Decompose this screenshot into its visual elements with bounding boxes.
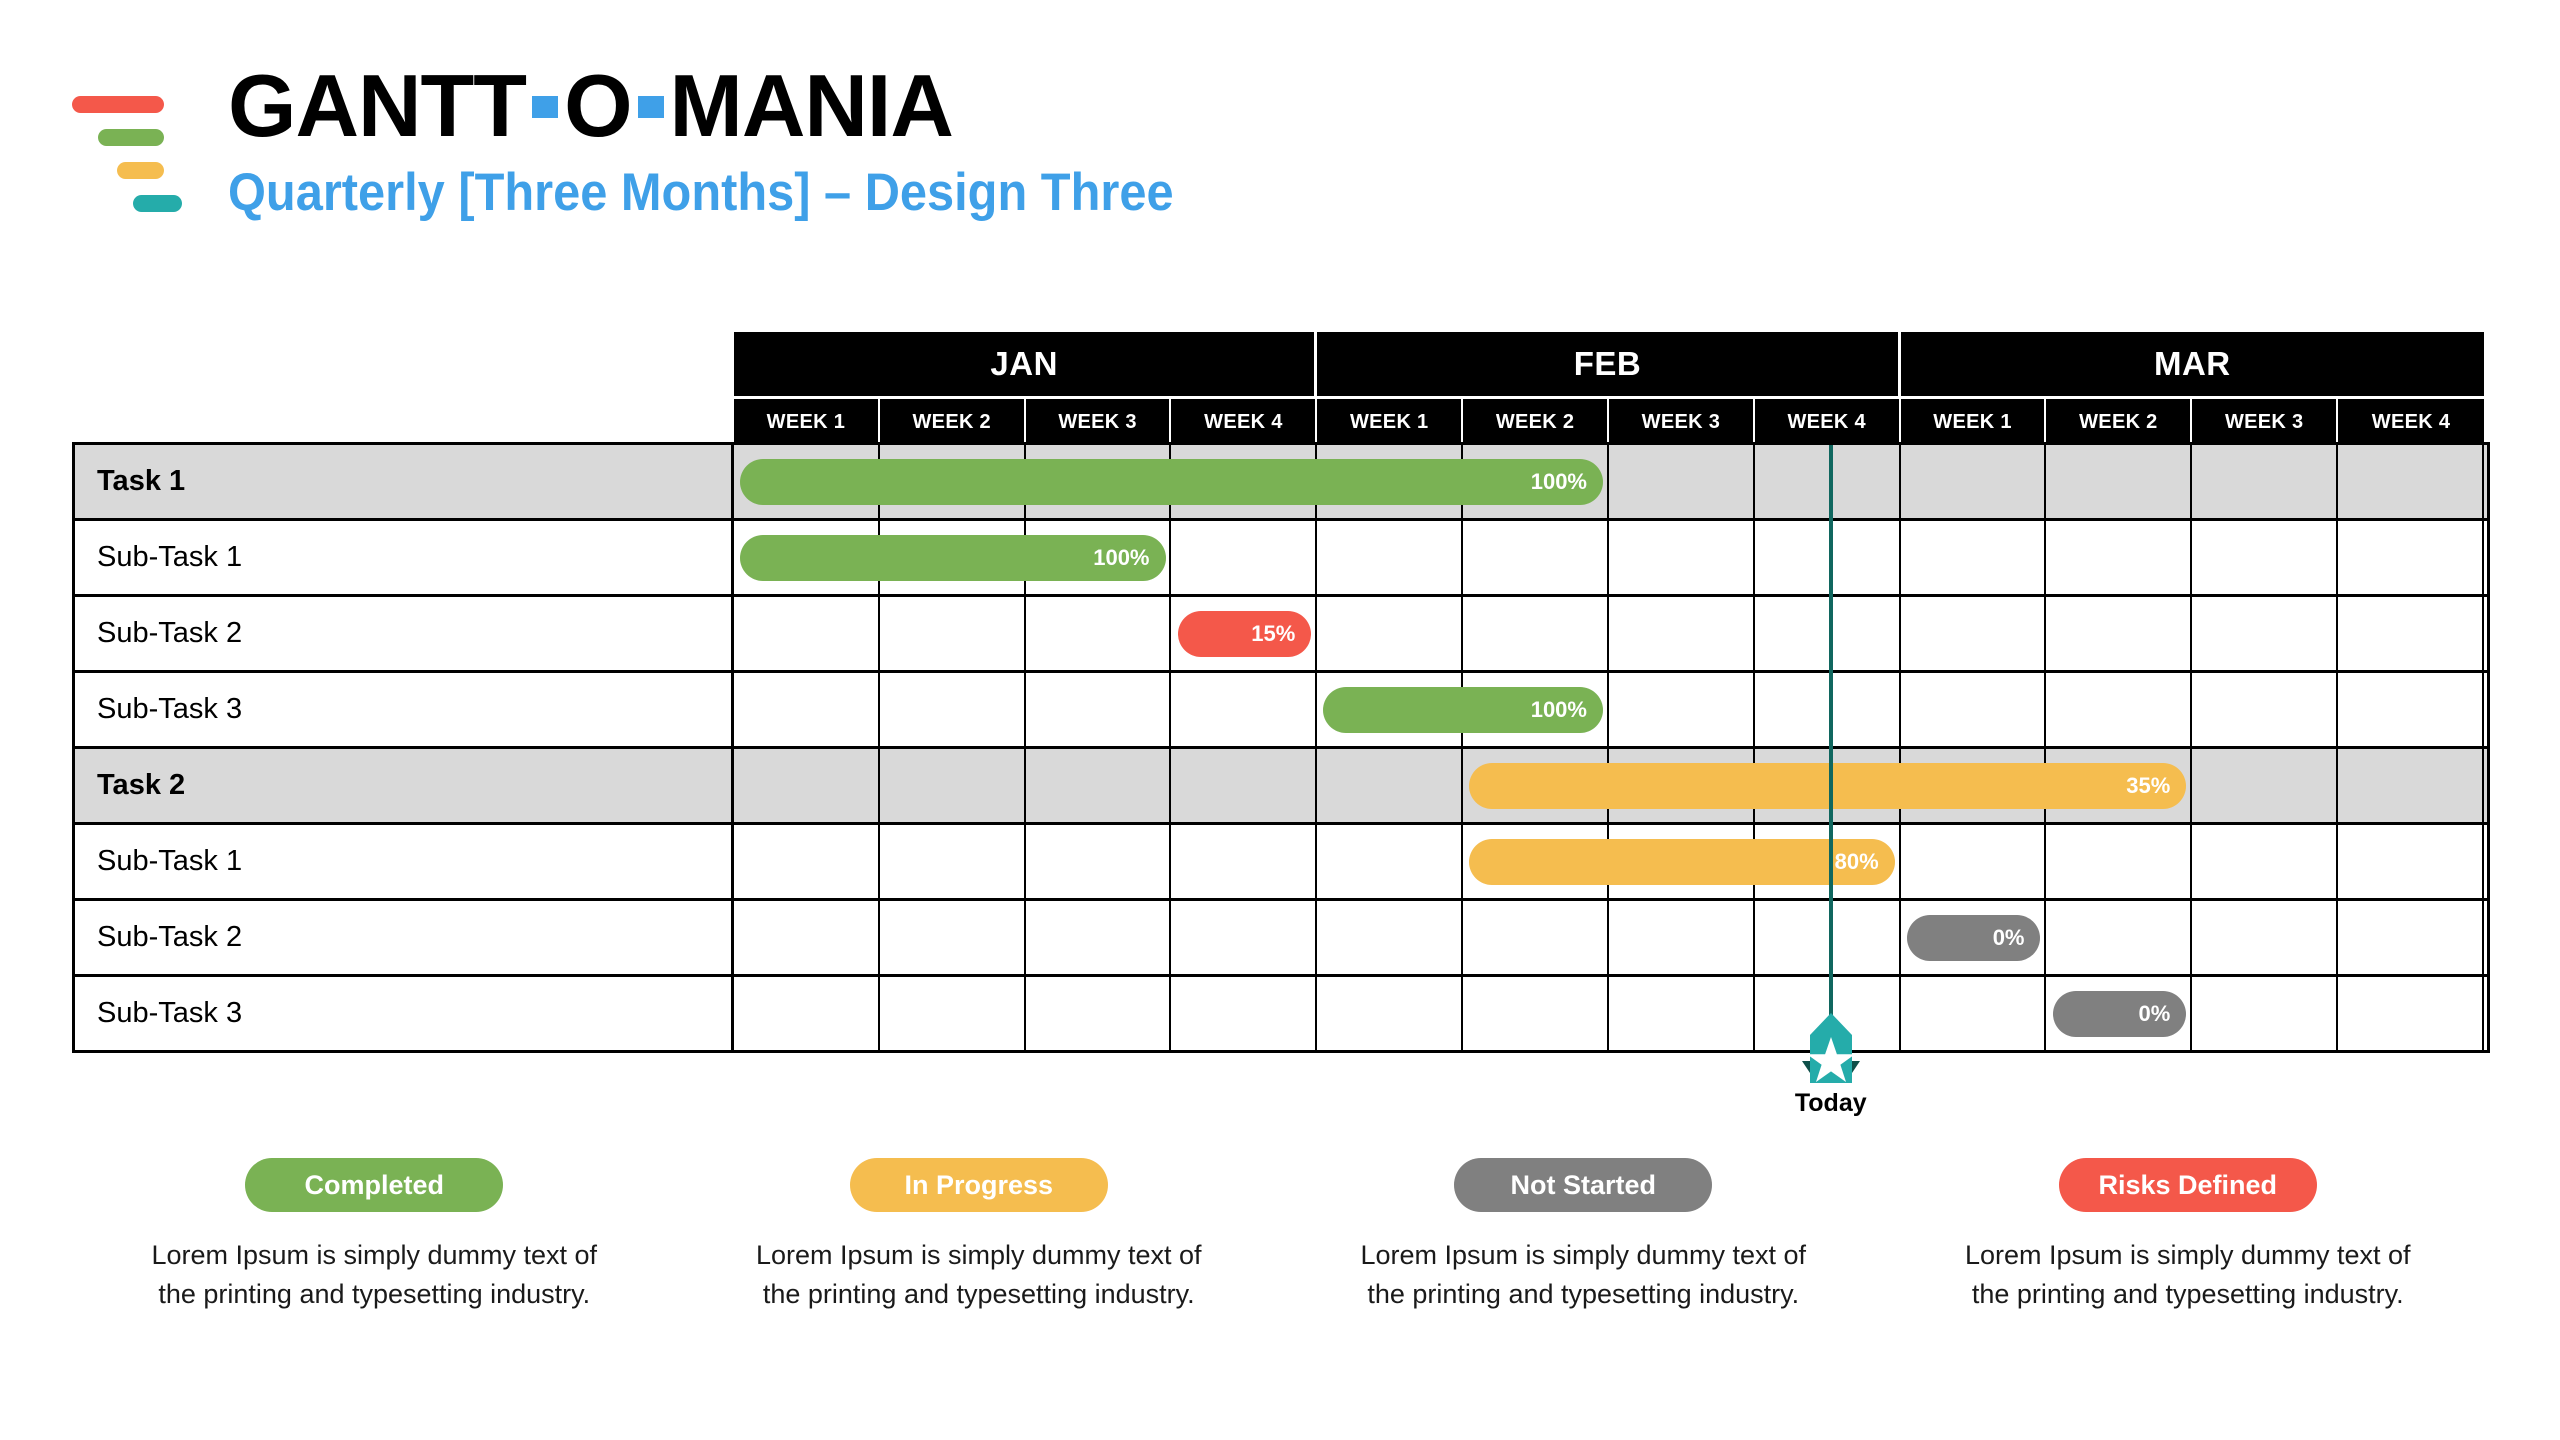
legend-pill[interactable]: Risks Defined: [2059, 1158, 2317, 1212]
week-header-mar-3: WEEK 3: [2192, 396, 2338, 442]
gantt-cell: [1026, 749, 1172, 822]
gantt-cell: [2338, 597, 2484, 670]
gantt-row-lane: 100%: [734, 445, 2490, 521]
title-segment-o: O: [564, 56, 631, 155]
page-title: GANTTOMANIA: [228, 62, 1256, 150]
gantt-row-label: Sub-Task 1: [72, 521, 734, 597]
gantt-row[interactable]: Sub-Task 3100%: [72, 673, 2490, 749]
gantt-row-label: Sub-Task 2: [72, 901, 734, 977]
gantt-bar[interactable]: 15%: [1178, 611, 1312, 657]
gantt-cell: [1901, 597, 2047, 670]
today-label: Today: [1741, 1089, 1921, 1118]
gantt-row[interactable]: Sub-Task 180%: [72, 825, 2490, 901]
week-header-feb-2: WEEK 2: [1463, 396, 1609, 442]
legend: CompletedLorem Ipsum is simply dummy tex…: [72, 1158, 2490, 1314]
page-subtitle: Quarterly [Three Months] – Design Three: [228, 162, 1174, 223]
gantt-bar-progress: 0%: [1993, 925, 2025, 951]
gantt-row-lane: 100%: [734, 673, 2490, 749]
logo-bar-red: [72, 96, 164, 113]
month-header-mar: MAR: [1901, 332, 2484, 396]
gantt-bar-progress: 100%: [1531, 697, 1587, 723]
legend-pill[interactable]: In Progress: [850, 1158, 1108, 1212]
gantt-cell: [1901, 445, 2047, 518]
gantt-row-label: Sub-Task 3: [72, 673, 734, 749]
week-header-feb-4: WEEK 4: [1755, 396, 1901, 442]
gantt-bar-progress: 80%: [1835, 849, 1879, 875]
gantt-cell: [2192, 749, 2338, 822]
week-header-feb-3: WEEK 3: [1609, 396, 1755, 442]
legend-description: Lorem Ipsum is simply dummy text of the …: [1348, 1236, 1818, 1314]
legend-item: Risks DefinedLorem Ipsum is simply dummy…: [1886, 1158, 2491, 1314]
week-header-row: WEEK 1WEEK 2WEEK 3WEEK 4WEEK 1WEEK 2WEEK…: [72, 396, 2490, 442]
gantt-cell: [880, 673, 1026, 746]
gantt-cell: [734, 597, 880, 670]
gantt-cell: [1026, 597, 1172, 670]
gantt-bar-progress: 35%: [2126, 773, 2170, 799]
gantt-cell: [2338, 749, 2484, 822]
gantt-row-lane: 80%: [734, 825, 2490, 901]
title-segment-gantt: GANTT: [228, 56, 526, 155]
gantt-cell: [880, 597, 1026, 670]
gantt-row[interactable]: Sub-Task 20%: [72, 901, 2490, 977]
gantt-cell: [1463, 977, 1609, 1050]
gantt-cell: [2046, 825, 2192, 898]
gantt-chart: JANFEBMAR WEEK 1WEEK 2WEEK 3WEEK 4WEEK 1…: [72, 332, 2490, 1053]
gantt-cell: [1317, 749, 1463, 822]
gantt-cell: [1901, 521, 2047, 594]
title-dash-one-icon: [532, 96, 558, 118]
gantt-cell: [734, 749, 880, 822]
month-header-row: JANFEBMAR: [72, 332, 2490, 396]
gantt-cell: [1755, 673, 1901, 746]
gantt-row-lane: 35%: [734, 749, 2490, 825]
gantt-cell: [2046, 597, 2192, 670]
gantt-cell: [1171, 749, 1317, 822]
gantt-cell: [2338, 901, 2484, 974]
week-header-jan-3: WEEK 3: [1026, 396, 1172, 442]
gantt-bar[interactable]: 0%: [1907, 915, 2041, 961]
gantt-row-label: Task 1: [72, 445, 734, 521]
gantt-cell: [1609, 901, 1755, 974]
gantt-cell: [1026, 825, 1172, 898]
gantt-cell: [2192, 521, 2338, 594]
logo-mark: [72, 96, 182, 206]
title-segment-mania: MANIA: [670, 56, 953, 155]
gantt-cell: [734, 901, 880, 974]
legend-description: Lorem Ipsum is simply dummy text of the …: [1953, 1236, 2423, 1314]
gantt-cell: [1317, 977, 1463, 1050]
gantt-bar[interactable]: 100%: [740, 459, 1603, 505]
logo-bar-green: [98, 129, 164, 146]
week-header-jan-4: WEEK 4: [1171, 396, 1317, 442]
gantt-cell: [1317, 521, 1463, 594]
logo-bar-teal: [133, 195, 182, 212]
gantt-cell: [1755, 521, 1901, 594]
gantt-cell: [2046, 673, 2192, 746]
title-block: GANTTOMANIA Quarterly [Three Months] – D…: [228, 62, 1256, 223]
gantt-cell: [2192, 825, 2338, 898]
week-header-jan-1: WEEK 1: [734, 396, 880, 442]
gantt-cell: [1171, 977, 1317, 1050]
gantt-cell: [734, 825, 880, 898]
page-header: GANTTOMANIA Quarterly [Three Months] – D…: [0, 0, 2560, 290]
gantt-cell: [1317, 825, 1463, 898]
title-dash-two-icon: [638, 96, 664, 118]
gantt-cell: [1609, 445, 1755, 518]
week-header-jan-2: WEEK 2: [880, 396, 1026, 442]
month-header-feb: FEB: [1317, 332, 1900, 396]
gantt-cell: [1901, 825, 2047, 898]
gantt-cell: [1317, 901, 1463, 974]
gantt-cell: [1609, 521, 1755, 594]
gantt-cell: [1026, 977, 1172, 1050]
gantt-bar[interactable]: 100%: [740, 535, 1166, 581]
gantt-row[interactable]: Task 1100%: [72, 445, 2490, 521]
gantt-cell: [1171, 521, 1317, 594]
gantt-row-label: Task 2: [72, 749, 734, 825]
gantt-cell: [1755, 597, 1901, 670]
today-marker-icon: [1800, 1013, 1862, 1092]
gantt-cell: [1755, 901, 1901, 974]
week-header-feb-1: WEEK 1: [1317, 396, 1463, 442]
gantt-cell: [2192, 673, 2338, 746]
gantt-row[interactable]: Sub-Task 215%: [72, 597, 2490, 673]
gantt-bar[interactable]: 0%: [2053, 991, 2187, 1037]
gantt-cell: [1171, 673, 1317, 746]
week-header-mar-2: WEEK 2: [2046, 396, 2192, 442]
today-line: [1829, 445, 1833, 1019]
gantt-cell: [1901, 977, 2047, 1050]
gantt-cell: [2192, 445, 2338, 518]
legend-description: Lorem Ipsum is simply dummy text of the …: [744, 1236, 1214, 1314]
legend-item: In ProgressLorem Ipsum is simply dummy t…: [677, 1158, 1282, 1314]
gantt-cell: [1609, 673, 1755, 746]
gantt-bar[interactable]: 100%: [1323, 687, 1603, 733]
gantt-row[interactable]: Sub-Task 30%: [72, 977, 2490, 1053]
week-header-mar-4: WEEK 4: [2338, 396, 2484, 442]
gantt-cell: [1901, 673, 2047, 746]
gantt-cell: [880, 977, 1026, 1050]
gantt-cell: [1171, 901, 1317, 974]
gantt-cell: [2338, 673, 2484, 746]
gantt-cell: [1463, 597, 1609, 670]
gantt-cell: [2338, 445, 2484, 518]
month-header-jan: JAN: [734, 332, 1317, 396]
gantt-bar-progress: 15%: [1251, 621, 1295, 647]
gantt-cell: [2046, 901, 2192, 974]
gantt-cell: [2192, 901, 2338, 974]
gantt-cell: [2192, 977, 2338, 1050]
gantt-cell: [1026, 673, 1172, 746]
gantt-row-lane: 100%: [734, 521, 2490, 597]
gantt-row-label: Sub-Task 3: [72, 977, 734, 1053]
gantt-cell: [2338, 977, 2484, 1050]
gantt-cell: [880, 749, 1026, 822]
legend-item: CompletedLorem Ipsum is simply dummy tex…: [72, 1158, 677, 1314]
gantt-cell: [2338, 825, 2484, 898]
gantt-cell: [1609, 977, 1755, 1050]
gantt-cell: [2046, 445, 2192, 518]
gantt-row-lane: 0%: [734, 977, 2490, 1053]
legend-description: Lorem Ipsum is simply dummy text of the …: [139, 1236, 609, 1314]
week-header-corner-spacer: [72, 396, 734, 442]
gantt-cell: [734, 977, 880, 1050]
gantt-grid-body: Task 1100%Sub-Task 1100%Sub-Task 215%Sub…: [72, 442, 2490, 1053]
logo-bar-yellow: [117, 162, 164, 179]
gantt-cell: [880, 825, 1026, 898]
week-header-mar-1: WEEK 1: [1901, 396, 2047, 442]
gantt-bar[interactable]: 35%: [1469, 763, 2186, 809]
gantt-row-label: Sub-Task 1: [72, 825, 734, 901]
legend-pill[interactable]: Completed: [245, 1158, 503, 1212]
gantt-row-lane: 0%: [734, 901, 2490, 977]
gantt-cell: [2338, 521, 2484, 594]
gantt-cell: [734, 673, 880, 746]
gantt-cell: [1463, 521, 1609, 594]
gantt-row[interactable]: Task 235%: [72, 749, 2490, 825]
gantt-bar-progress: 100%: [1531, 469, 1587, 495]
gantt-cell: [880, 901, 1026, 974]
gantt-row-label: Sub-Task 2: [72, 597, 734, 673]
gantt-bar-progress: 100%: [1093, 545, 1149, 571]
gantt-cell: [1317, 597, 1463, 670]
gantt-cell: [1026, 901, 1172, 974]
legend-item: Not StartedLorem Ipsum is simply dummy t…: [1281, 1158, 1886, 1314]
gantt-cell: [2192, 597, 2338, 670]
legend-pill[interactable]: Not Started: [1454, 1158, 1712, 1212]
gantt-cell: [2046, 521, 2192, 594]
gantt-cell: [1609, 597, 1755, 670]
gantt-row[interactable]: Sub-Task 1100%: [72, 521, 2490, 597]
gantt-cell: [1463, 901, 1609, 974]
gantt-bar-progress: 0%: [2139, 1001, 2171, 1027]
gantt-cell: [1171, 825, 1317, 898]
header-corner-spacer: [72, 332, 734, 396]
gantt-row-lane: 15%: [734, 597, 2490, 673]
gantt-cell: [1755, 445, 1901, 518]
